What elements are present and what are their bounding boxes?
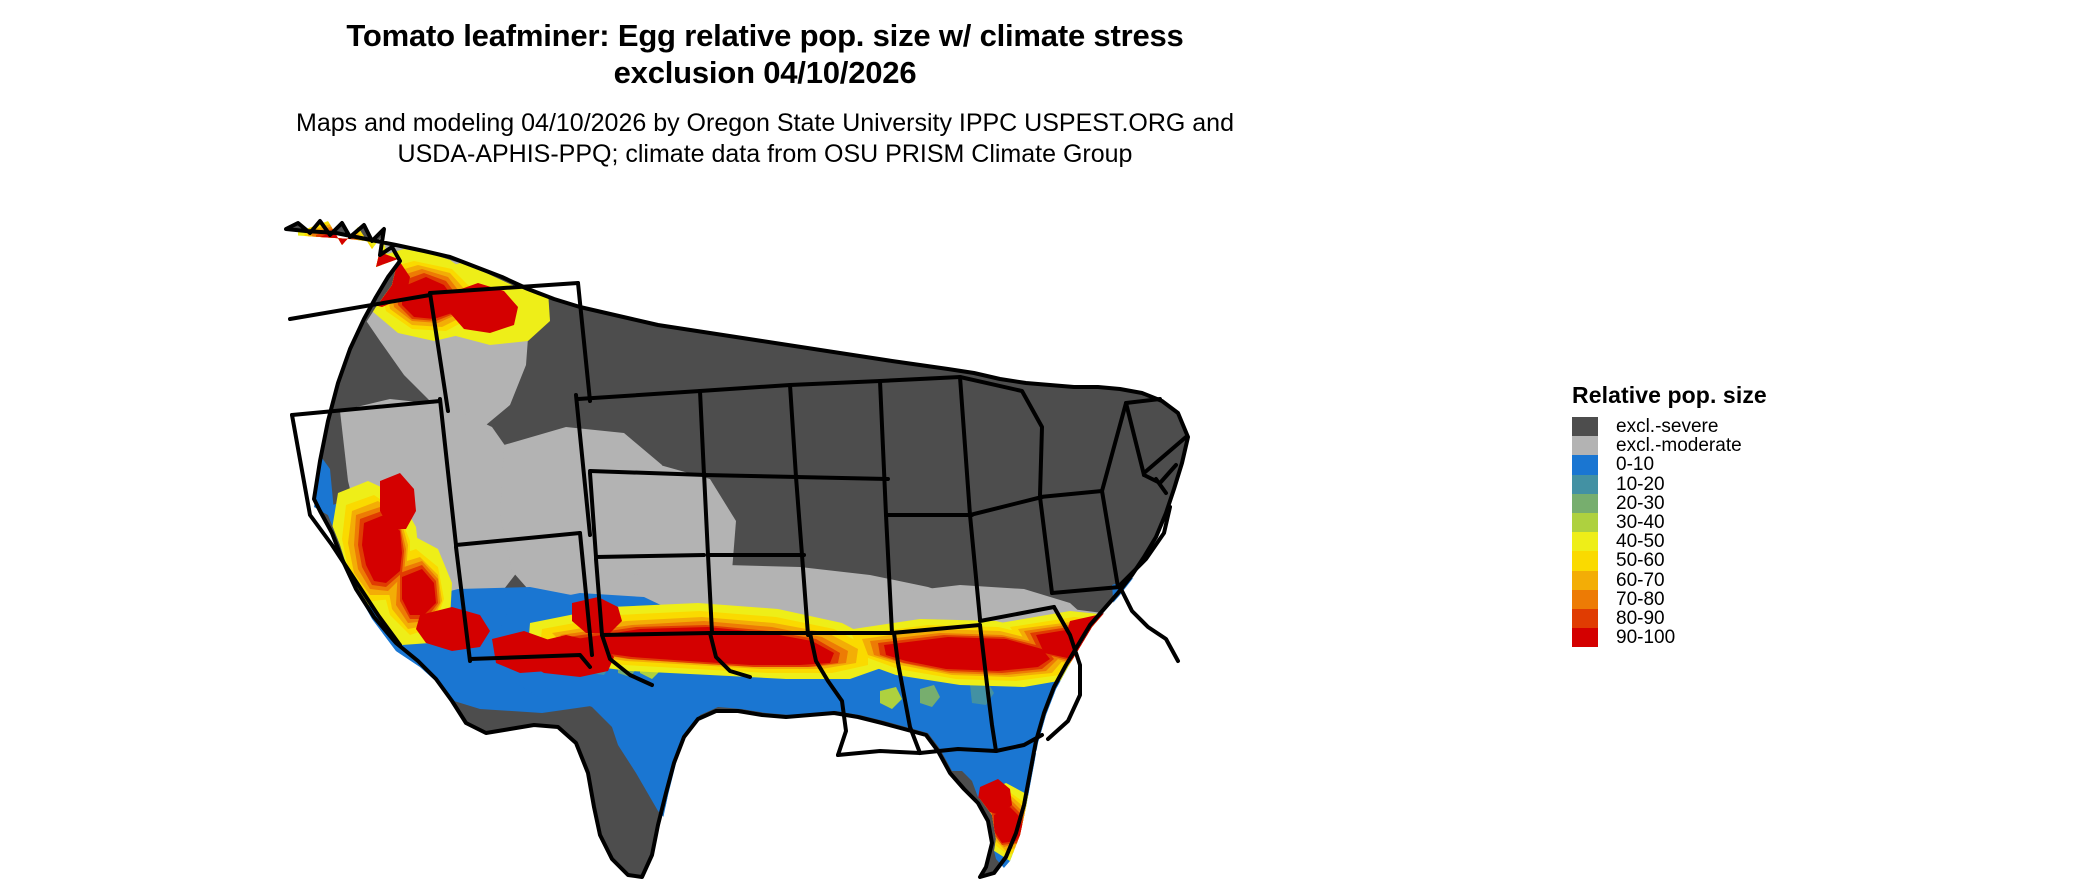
legend-swatch: [1572, 475, 1598, 494]
legend-label: 70-80: [1616, 590, 1665, 609]
legend-label: 10-20: [1616, 475, 1665, 494]
legend-swatch: [1572, 590, 1598, 609]
legend-swatch: [1572, 417, 1598, 436]
legend-label: excl.-severe: [1616, 417, 1718, 436]
legend-swatch: [1572, 494, 1598, 513]
legend-item: 30-40: [1572, 513, 2002, 532]
legend-label: 0-10: [1616, 455, 1654, 474]
legend-label: 20-30: [1616, 494, 1665, 513]
legend-item: 40-50: [1572, 532, 2002, 551]
legend-item: 20-30: [1572, 494, 2002, 513]
map-canvas: [280, 215, 1200, 880]
legend-swatch: [1572, 571, 1598, 590]
legend-item: 0-10: [1572, 455, 2002, 474]
page-subtitle: Maps and modeling 04/10/2026 by Oregon S…: [0, 108, 1530, 169]
legend-item: excl.-severe: [1572, 417, 2002, 436]
legend-item: 70-80: [1572, 590, 2002, 609]
legend-item: 10-20: [1572, 475, 2002, 494]
legend-swatch: [1572, 609, 1598, 628]
legend-label: 30-40: [1616, 513, 1665, 532]
legend-label: 90-100: [1616, 628, 1675, 647]
legend-swatch: [1572, 551, 1598, 570]
legend-label: excl.-moderate: [1616, 436, 1742, 455]
legend-item: 90-100: [1572, 628, 2002, 647]
legend-item: 60-70: [1572, 571, 2002, 590]
title-block: Tomato leafminer: Egg relative pop. size…: [0, 18, 1530, 169]
legend-label: 50-60: [1616, 551, 1665, 570]
legend-label: 40-50: [1616, 532, 1665, 551]
legend-swatch: [1572, 532, 1598, 551]
legend-item: 50-60: [1572, 551, 2002, 570]
legend-swatch: [1572, 455, 1598, 474]
map-page: Tomato leafminer: Egg relative pop. size…: [0, 0, 2100, 892]
legend: Relative pop. size excl.-severeexcl.-mod…: [1572, 382, 2002, 647]
us-choropleth-map: [280, 215, 1200, 880]
legend-title: Relative pop. size: [1572, 382, 2002, 409]
legend-item: 80-90: [1572, 609, 2002, 628]
legend-swatch: [1572, 436, 1598, 455]
legend-swatch: [1572, 513, 1598, 532]
legend-label: 80-90: [1616, 609, 1665, 628]
legend-items: excl.-severeexcl.-moderate0-1010-2020-30…: [1572, 417, 2002, 647]
legend-item: excl.-moderate: [1572, 436, 2002, 455]
legend-swatch: [1572, 628, 1598, 647]
legend-label: 60-70: [1616, 571, 1665, 590]
page-title: Tomato leafminer: Egg relative pop. size…: [0, 18, 1530, 91]
